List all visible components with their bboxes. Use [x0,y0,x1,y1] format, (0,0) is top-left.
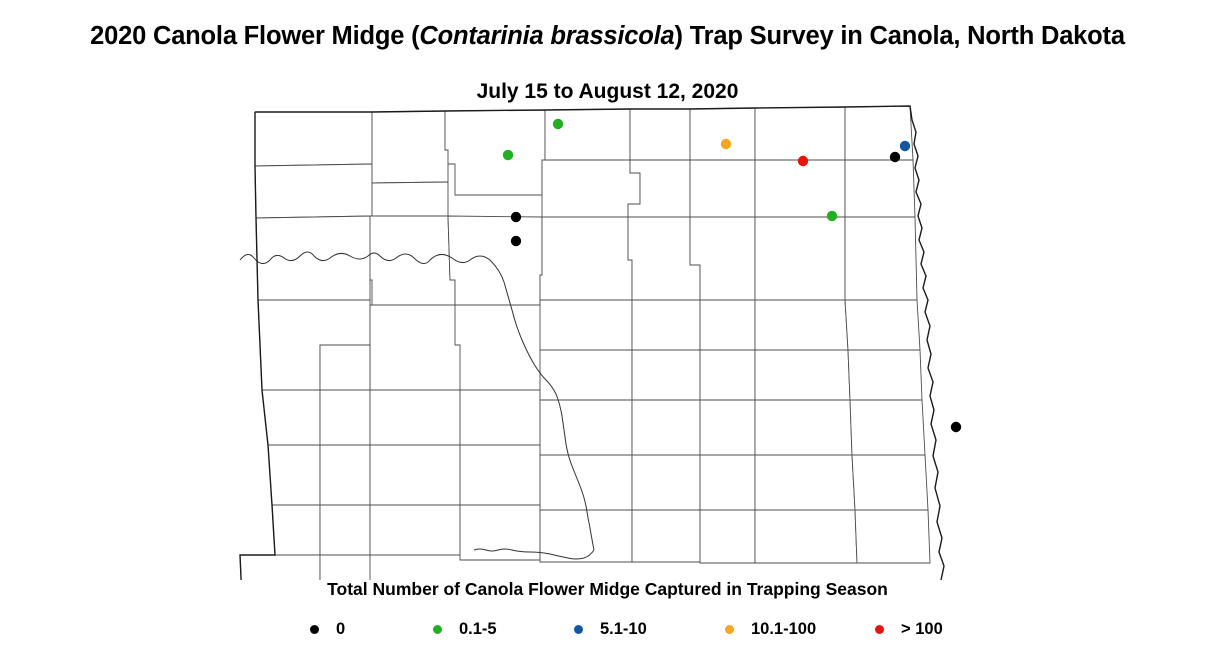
legend-item: 10.1-100 [725,617,816,641]
legend-item: > 100 [875,617,943,641]
trap-point [511,212,521,222]
county-boundaries [240,106,930,580]
legend-swatch-dot-icon [725,625,734,634]
legend: 00.1-55.1-1010.1-100> 100 [295,617,995,647]
title-part-2: ) Trap Survey in Canola, North Dakota [675,22,1125,50]
north-dakota-county-map [0,100,1215,580]
map-page: 2020 Canola Flower Midge (Contarinia bra… [0,0,1215,653]
legend-swatch-dot-icon [310,625,319,634]
trap-point [827,211,837,221]
legend-item-label: 0.1-5 [459,621,497,638]
trap-point [503,150,513,160]
trap-point [900,141,910,151]
trap-point [511,236,521,246]
legend-item: 0 [310,617,345,641]
trap-point [951,422,961,432]
trap-point [890,152,900,162]
legend-swatch-dot-icon [875,625,884,634]
legend-item: 0.1-5 [433,617,497,641]
map-container [0,100,1215,580]
legend-swatch-dot-icon [574,625,583,634]
species-name: Contarinia brassicola [419,22,674,50]
legend-item-label: 0 [336,621,345,638]
legend-swatch-dot-icon [433,625,442,634]
page-title: 2020 Canola Flower Midge (Contarinia bra… [0,22,1215,50]
legend-item-label: > 100 [901,621,943,638]
title-part-1: 2020 Canola Flower Midge ( [90,22,419,50]
legend-heading: Total Number of Canola Flower Midge Capt… [0,580,1215,599]
trap-point [798,156,808,166]
legend-item: 5.1-10 [574,617,647,641]
trap-point [721,139,731,149]
trap-point [553,119,563,129]
legend-item-label: 5.1-10 [600,621,647,638]
legend-item-label: 10.1-100 [751,621,816,638]
